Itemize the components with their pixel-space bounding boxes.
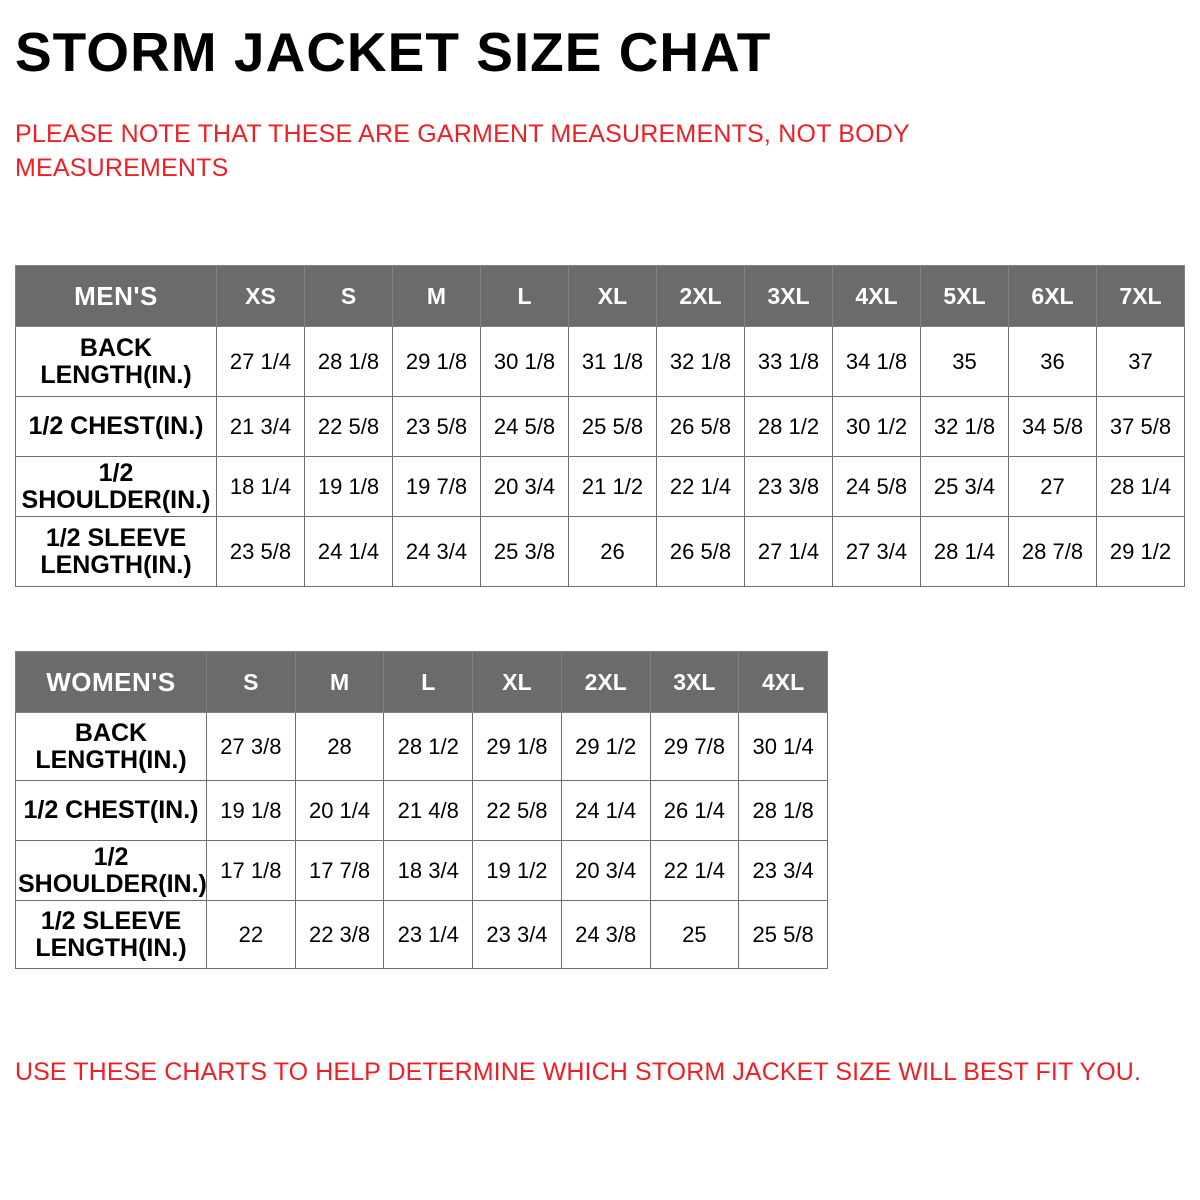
measurement-cell: 29 1/8 <box>393 327 481 397</box>
measurement-cell: 28 7/8 <box>1009 517 1097 587</box>
mens-table-header: MEN'SXSSMLXL2XL3XL4XL5XL6XL7XL <box>16 266 1185 327</box>
footer-guidance-note: USE THESE CHARTS TO HELP DETERMINE WHICH… <box>15 1058 1175 1087</box>
womens-size-header-2xl: 2XL <box>561 652 650 713</box>
measurement-cell: 28 1/4 <box>1097 457 1185 517</box>
mens-size-header-3xl: 3XL <box>745 266 833 327</box>
measurement-cell: 30 1/4 <box>739 713 828 781</box>
measurement-cell: 23 1/4 <box>384 901 473 969</box>
measurement-cell: 19 1/8 <box>207 781 296 841</box>
measurement-cell: 26 1/4 <box>650 781 739 841</box>
measurement-cell: 37 <box>1097 327 1185 397</box>
measurement-cell: 17 7/8 <box>295 841 384 901</box>
table-row: BACKLENGTH(IN.)27 3/82828 1/229 1/829 1/… <box>16 713 828 781</box>
measurement-cell: 24 3/8 <box>561 901 650 969</box>
womens-size-header-m: M <box>295 652 384 713</box>
row-label-line: 1/2 CHEST(IN.) <box>23 796 198 824</box>
measurement-cell: 19 1/8 <box>305 457 393 517</box>
measurement-cell: 33 1/8 <box>745 327 833 397</box>
measurement-cell: 37 5/8 <box>1097 397 1185 457</box>
measurement-cell: 19 7/8 <box>393 457 481 517</box>
measurement-cell: 20 1/4 <box>295 781 384 841</box>
mens-size-header-4xl: 4XL <box>833 266 921 327</box>
measurement-cell: 28 1/4 <box>921 517 1009 587</box>
measurement-cell: 21 4/8 <box>384 781 473 841</box>
measurement-cell: 28 1/2 <box>745 397 833 457</box>
measurement-cell: 21 3/4 <box>217 397 305 457</box>
womens-size-header-l: L <box>384 652 473 713</box>
row-label-line: 1/2 SLEEVE <box>41 907 181 935</box>
measurement-cell: 29 1/2 <box>1097 517 1185 587</box>
measurement-cell: 23 3/4 <box>739 841 828 901</box>
mens-table-body: BACKLENGTH(IN.)27 1/428 1/829 1/830 1/83… <box>16 327 1185 587</box>
womens-row-label: 1/2 SHOULDER(IN.) <box>16 841 207 901</box>
measurement-cell: 28 <box>295 713 384 781</box>
mens-size-header-xs: XS <box>217 266 305 327</box>
measurement-cell: 18 1/4 <box>217 457 305 517</box>
mens-row-label: 1/2 CHEST(IN.) <box>16 397 217 457</box>
measurement-cell: 25 3/4 <box>921 457 1009 517</box>
measurement-cell: 23 3/8 <box>745 457 833 517</box>
table-row: 1/2 CHEST(IN.)19 1/820 1/421 4/822 5/824… <box>16 781 828 841</box>
womens-table-header: WOMEN'SSMLXL2XL3XL4XL <box>16 652 828 713</box>
womens-corner-label: WOMEN'S <box>16 652 207 713</box>
row-label-line: LENGTH(IN.) <box>40 361 191 389</box>
table-row: 1/2 SHOULDER(IN.)18 1/419 1/819 7/820 3/… <box>16 457 1185 517</box>
row-label-line: 1/2 CHEST(IN.) <box>28 412 203 440</box>
garment-measurement-note: PLEASE NOTE THAT THESE ARE GARMENT MEASU… <box>15 118 1075 186</box>
womens-size-header-3xl: 3XL <box>650 652 739 713</box>
mens-row-label: 1/2 SHOULDER(IN.) <box>16 457 217 517</box>
measurement-cell: 25 <box>650 901 739 969</box>
row-label-line: LENGTH(IN.) <box>35 934 186 962</box>
measurement-cell: 28 1/8 <box>305 327 393 397</box>
measurement-cell: 27 <box>1009 457 1097 517</box>
measurement-cell: 18 3/4 <box>384 841 473 901</box>
row-label-line: LENGTH(IN.) <box>40 551 191 579</box>
measurement-cell: 28 1/8 <box>739 781 828 841</box>
measurement-cell: 23 5/8 <box>393 397 481 457</box>
measurement-cell: 32 1/8 <box>921 397 1009 457</box>
measurement-cell: 24 5/8 <box>833 457 921 517</box>
mens-header-row: MEN'SXSSMLXL2XL3XL4XL5XL6XL7XL <box>16 266 1185 327</box>
womens-size-header-s: S <box>207 652 296 713</box>
measurement-cell: 29 1/8 <box>473 713 562 781</box>
table-row: BACKLENGTH(IN.)27 1/428 1/829 1/830 1/83… <box>16 327 1185 397</box>
mens-size-header-xl: XL <box>569 266 657 327</box>
measurement-cell: 26 5/8 <box>657 517 745 587</box>
womens-size-header-xl: XL <box>473 652 562 713</box>
mens-size-header-6xl: 6XL <box>1009 266 1097 327</box>
measurement-cell: 17 1/8 <box>207 841 296 901</box>
measurement-cell: 23 5/8 <box>217 517 305 587</box>
womens-row-label: 1/2 CHEST(IN.) <box>16 781 207 841</box>
row-label-line: 1/2 SHOULDER(IN.) <box>18 843 207 898</box>
measurement-cell: 27 3/8 <box>207 713 296 781</box>
womens-row-label: 1/2 SLEEVELENGTH(IN.) <box>16 901 207 969</box>
table-row: 1/2 CHEST(IN.)21 3/422 5/823 5/824 5/825… <box>16 397 1185 457</box>
mens-size-table: MEN'SXSSMLXL2XL3XL4XL5XL6XL7XL BACKLENGT… <box>15 265 1185 587</box>
measurement-cell: 26 5/8 <box>657 397 745 457</box>
measurement-cell: 35 <box>921 327 1009 397</box>
measurement-cell: 22 1/4 <box>650 841 739 901</box>
womens-table-body: BACKLENGTH(IN.)27 3/82828 1/229 1/829 1/… <box>16 713 828 969</box>
measurement-cell: 27 3/4 <box>833 517 921 587</box>
measurement-cell: 34 5/8 <box>1009 397 1097 457</box>
measurement-cell: 25 5/8 <box>739 901 828 969</box>
row-label-line: BACK <box>75 719 147 747</box>
mens-corner-label: MEN'S <box>16 266 217 327</box>
mens-size-header-l: L <box>481 266 569 327</box>
table-row: 1/2 SHOULDER(IN.)17 1/817 7/818 3/419 1/… <box>16 841 828 901</box>
measurement-cell: 31 1/8 <box>569 327 657 397</box>
mens-row-label: 1/2 SLEEVELENGTH(IN.) <box>16 517 217 587</box>
measurement-cell: 29 1/2 <box>561 713 650 781</box>
measurement-cell: 22 1/4 <box>657 457 745 517</box>
measurement-cell: 20 3/4 <box>481 457 569 517</box>
table-row: 1/2 SLEEVELENGTH(IN.)2222 3/823 1/423 3/… <box>16 901 828 969</box>
measurement-cell: 30 1/8 <box>481 327 569 397</box>
womens-size-table: WOMEN'SSMLXL2XL3XL4XL BACKLENGTH(IN.)27 … <box>15 651 828 969</box>
measurement-cell: 22 <box>207 901 296 969</box>
mens-size-header-5xl: 5XL <box>921 266 1009 327</box>
mens-size-header-m: M <box>393 266 481 327</box>
measurement-cell: 24 1/4 <box>561 781 650 841</box>
measurement-cell: 32 1/8 <box>657 327 745 397</box>
womens-header-row: WOMEN'SSMLXL2XL3XL4XL <box>16 652 828 713</box>
measurement-cell: 26 <box>569 517 657 587</box>
measurement-cell: 25 5/8 <box>569 397 657 457</box>
row-label-line: LENGTH(IN.) <box>35 746 186 774</box>
size-chart-page: STORM JACKET SIZE CHAT PLEASE NOTE THAT … <box>0 0 1200 1200</box>
measurement-cell: 20 3/4 <box>561 841 650 901</box>
womens-size-header-4xl: 4XL <box>739 652 828 713</box>
measurement-cell: 24 1/4 <box>305 517 393 587</box>
mens-size-header-2xl: 2XL <box>657 266 745 327</box>
measurement-cell: 27 1/4 <box>217 327 305 397</box>
page-title: STORM JACKET SIZE CHAT <box>15 24 771 82</box>
measurement-cell: 22 3/8 <box>295 901 384 969</box>
measurement-cell: 22 5/8 <box>473 781 562 841</box>
mens-row-label: BACKLENGTH(IN.) <box>16 327 217 397</box>
measurement-cell: 29 7/8 <box>650 713 739 781</box>
womens-row-label: BACKLENGTH(IN.) <box>16 713 207 781</box>
mens-size-header-s: S <box>305 266 393 327</box>
measurement-cell: 19 1/2 <box>473 841 562 901</box>
measurement-cell: 30 1/2 <box>833 397 921 457</box>
measurement-cell: 23 3/4 <box>473 901 562 969</box>
mens-size-header-7xl: 7XL <box>1097 266 1185 327</box>
table-row: 1/2 SLEEVELENGTH(IN.)23 5/824 1/424 3/42… <box>16 517 1185 587</box>
measurement-cell: 36 <box>1009 327 1097 397</box>
measurement-cell: 24 5/8 <box>481 397 569 457</box>
measurement-cell: 21 1/2 <box>569 457 657 517</box>
row-label-line: BACK <box>80 334 152 362</box>
measurement-cell: 28 1/2 <box>384 713 473 781</box>
measurement-cell: 22 5/8 <box>305 397 393 457</box>
row-label-line: 1/2 SLEEVE <box>46 524 186 552</box>
measurement-cell: 25 3/8 <box>481 517 569 587</box>
measurement-cell: 34 1/8 <box>833 327 921 397</box>
measurement-cell: 24 3/4 <box>393 517 481 587</box>
row-label-line: 1/2 SHOULDER(IN.) <box>22 459 211 514</box>
measurement-cell: 27 1/4 <box>745 517 833 587</box>
